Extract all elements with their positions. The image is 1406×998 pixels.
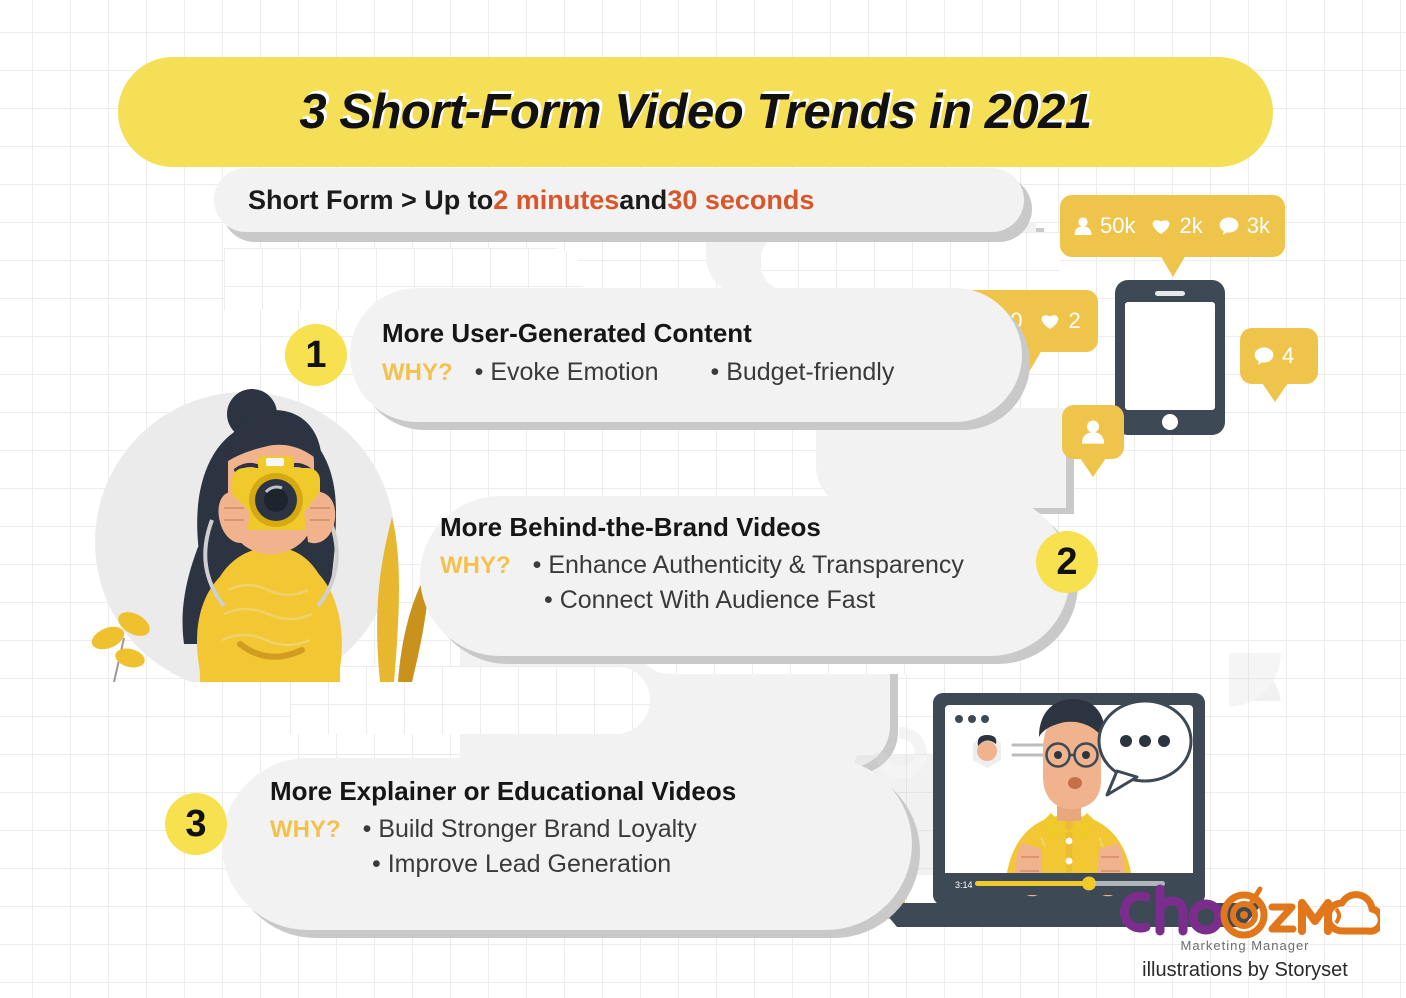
- trend-1-body: More User-Generated Content WHY? • Evoke…: [382, 318, 894, 387]
- illustration-credit: illustrations by Storyset: [1095, 959, 1395, 982]
- follower-bubble: [1062, 405, 1124, 459]
- trend-3-title: More Explainer or Educational Videos: [270, 776, 736, 807]
- smartphone-icon: [1115, 280, 1225, 435]
- bubble-tail: [1080, 458, 1106, 477]
- stat-value-followers: 50k: [1100, 213, 1135, 239]
- trend-3-body: More Explainer or Educational Videos WHY…: [270, 776, 736, 879]
- comment-icon: [1254, 347, 1274, 365]
- trend-3-reason-2: • Improve Lead Generation: [372, 850, 736, 879]
- comment-icon: [1219, 217, 1239, 235]
- trend-1-reason-1: • Evoke Emotion: [475, 358, 659, 387]
- stat-value-comment-count: 4: [1282, 343, 1294, 369]
- trend-3-why-label: WHY?: [270, 816, 341, 844]
- person-icon: [1081, 420, 1105, 445]
- bubble-tail: [1262, 383, 1288, 402]
- page-title: 3 Short-Form Video Trends in 2021: [118, 57, 1273, 167]
- subtitle-middle: and: [619, 185, 667, 216]
- comment-bubble: 4: [1240, 328, 1318, 384]
- trend-2-why-label: WHY?: [440, 552, 511, 580]
- subtitle-text: Short Form > Up to 2 minutes and 30 seco…: [214, 168, 1024, 232]
- stat-value-likes: 2k: [1179, 213, 1202, 239]
- trend-2-title: More Behind-the-Brand Videos: [440, 512, 964, 543]
- trend-1-badge: 1: [285, 324, 347, 386]
- heart-icon: [1151, 217, 1171, 235]
- subtitle-highlight-minutes: 2 minutes: [493, 185, 619, 216]
- trend-3-badge: 3: [165, 793, 227, 855]
- bubble-tail: [1160, 255, 1186, 277]
- trend-1-why-label: WHY?: [382, 359, 453, 387]
- trend-2-reason-2: • Connect With Audience Fast: [544, 586, 964, 615]
- trend-2-reason-1: • Enhance Authenticity & Transparency: [533, 551, 964, 580]
- person-icon: [1074, 217, 1092, 236]
- stat-value-likes-small: 2: [1068, 308, 1080, 334]
- logo-block: Marketing Manager illustrations by Story…: [1095, 884, 1395, 994]
- trend-1-title: More User-Generated Content: [382, 318, 894, 349]
- subtitle-prefix: Short Form > Up to: [248, 185, 493, 216]
- infographic-stage: 50k 2k 3k 10 2: [0, 0, 1406, 998]
- trend-2-body: More Behind-the-Brand Videos WHY? • Enha…: [440, 512, 964, 615]
- trend-3-reason-1: • Build Stronger Brand Loyalty: [363, 815, 697, 844]
- trend-1-reason-2: • Budget-friendly: [711, 358, 895, 387]
- trend-2-badge: 2: [1036, 531, 1098, 593]
- heart-icon: [1040, 312, 1060, 330]
- choozmo-logo[interactable]: [1095, 884, 1395, 940]
- subtitle-highlight-seconds: 30 seconds: [667, 185, 814, 216]
- video-timestamp: 3:14: [955, 880, 973, 890]
- stat-value-comments: 3k: [1247, 213, 1270, 239]
- stats-bubble-large: 50k 2k 3k: [1060, 195, 1285, 257]
